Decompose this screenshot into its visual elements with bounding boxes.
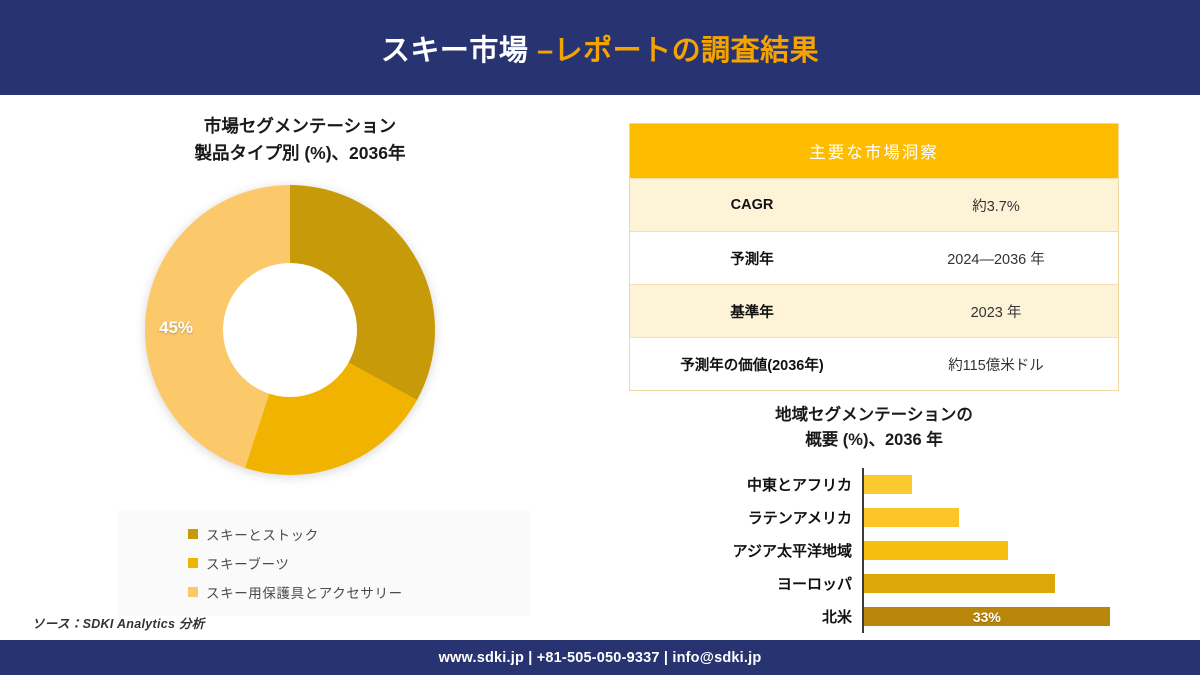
table-row: 基準年 2023 年	[630, 284, 1118, 337]
table-cell-value: 2023 年	[874, 285, 1118, 337]
bar-fill	[864, 508, 959, 527]
bar-track	[858, 567, 1140, 600]
bar-value-label: 33%	[973, 609, 1001, 625]
table-cell-key: 予測年	[630, 232, 874, 284]
footer-bar: www.sdki.jp | +81-505-050-9337 | info@sd…	[0, 640, 1200, 675]
regional-bar-chart: 中東とアフリカ ラテンアメリカ アジア太平洋地域	[690, 468, 1140, 633]
donut-slice-label-protective: 45%	[159, 318, 193, 338]
legend-label-skis-poles: スキーとストック	[206, 524, 319, 544]
table-header: 主要な市場洞察	[630, 124, 1118, 178]
donut-chart-title: 市場セグメンテーション 製品タイプ別 (%)、2036年	[60, 113, 540, 167]
donut-chart-legend: スキーとストック スキーブーツ スキー用保護具とアクセサリー	[118, 510, 530, 616]
table-cell-value: 約115億米ドル	[874, 338, 1118, 390]
table-header-label: 主要な市場洞察	[809, 139, 939, 163]
table-row: 予測年 2024—2036 年	[630, 231, 1118, 284]
bar-chart-title-line2: 概要 (%)、2036 年	[629, 428, 1119, 453]
bar-fill	[864, 475, 912, 494]
table-cell-value: 2024—2036 年	[874, 232, 1118, 284]
legend-item-ski-boots: スキーブーツ	[188, 553, 530, 573]
key-market-insights-table: 主要な市場洞察 CAGR 約3.7% 予測年 2024—2036 年 基準年 2…	[629, 123, 1119, 391]
page-title-sub: –レポートの調査結果	[537, 35, 819, 67]
bar-fill: 33%	[864, 607, 1110, 626]
legend-item-protective-gear: スキー用保護具とアクセサリー	[188, 582, 530, 602]
table-row: 予測年の価値(2036年) 約115億米ドル	[630, 337, 1118, 390]
donut-chart-title-line1: 市場セグメンテーション	[204, 116, 396, 136]
bar-chart-title-line1: 地域セグメンテーションの	[775, 406, 973, 424]
bar-row: 中東とアフリカ	[690, 468, 1140, 501]
bar-label: ラテンアメリカ	[690, 507, 858, 528]
header-bar: スキー市場 –レポートの調査結果	[0, 0, 1200, 95]
bar-track	[858, 468, 1140, 501]
legend-swatch-skis-poles	[188, 529, 198, 539]
table-cell-key: 予測年の価値(2036年)	[630, 338, 874, 390]
bar-track	[858, 501, 1140, 534]
bar-label: 中東とアフリカ	[690, 474, 858, 495]
bar-row: ラテンアメリカ	[690, 501, 1140, 534]
donut-chart-ring: 45%	[145, 185, 435, 475]
legend-label-protective-gear: スキー用保護具とアクセサリー	[206, 582, 403, 602]
source-note: ソース：SDKI Analytics 分析	[32, 613, 205, 632]
infographic-page: スキー市場 –レポートの調査結果 市場セグメンテーション 製品タイプ別 (%)、…	[0, 0, 1200, 675]
page-title: スキー市場 –レポートの調査結果	[381, 27, 819, 69]
table-cell-value: 約3.7%	[874, 179, 1118, 231]
bar-label: ヨーロッパ	[690, 573, 858, 594]
footer-contact-text: www.sdki.jp | +81-505-050-9337 | info@sd…	[439, 650, 762, 666]
donut-chart-title-line2: 製品タイプ別 (%)、2036年	[60, 140, 540, 167]
bar-row: ヨーロッパ	[690, 567, 1140, 600]
donut-chart-hole	[223, 263, 357, 397]
donut-chart: 45%	[145, 185, 435, 475]
bar-track	[858, 534, 1140, 567]
bar-row: アジア太平洋地域	[690, 534, 1140, 567]
bar-label: アジア太平洋地域	[690, 540, 858, 561]
bar-track: 33%	[858, 600, 1140, 633]
legend-swatch-protective-gear	[188, 587, 198, 597]
table-cell-key: CAGR	[630, 179, 874, 231]
legend-swatch-ski-boots	[188, 558, 198, 568]
donut-chart-panel: 市場セグメンテーション 製品タイプ別 (%)、2036年 45% スキーとストッ…	[0, 95, 600, 640]
table-row: CAGR 約3.7%	[630, 178, 1118, 231]
page-title-main: スキー市場	[381, 35, 537, 67]
legend-label-ski-boots: スキーブーツ	[206, 553, 290, 573]
bar-row: 北米 33%	[690, 600, 1140, 633]
legend-item-skis-poles: スキーとストック	[188, 524, 530, 544]
bar-label: 北米	[690, 606, 858, 627]
table-cell-key: 基準年	[630, 285, 874, 337]
bar-chart-title: 地域セグメンテーションの 概要 (%)、2036 年	[629, 403, 1119, 453]
bar-fill	[864, 541, 1008, 560]
bar-fill	[864, 574, 1055, 593]
